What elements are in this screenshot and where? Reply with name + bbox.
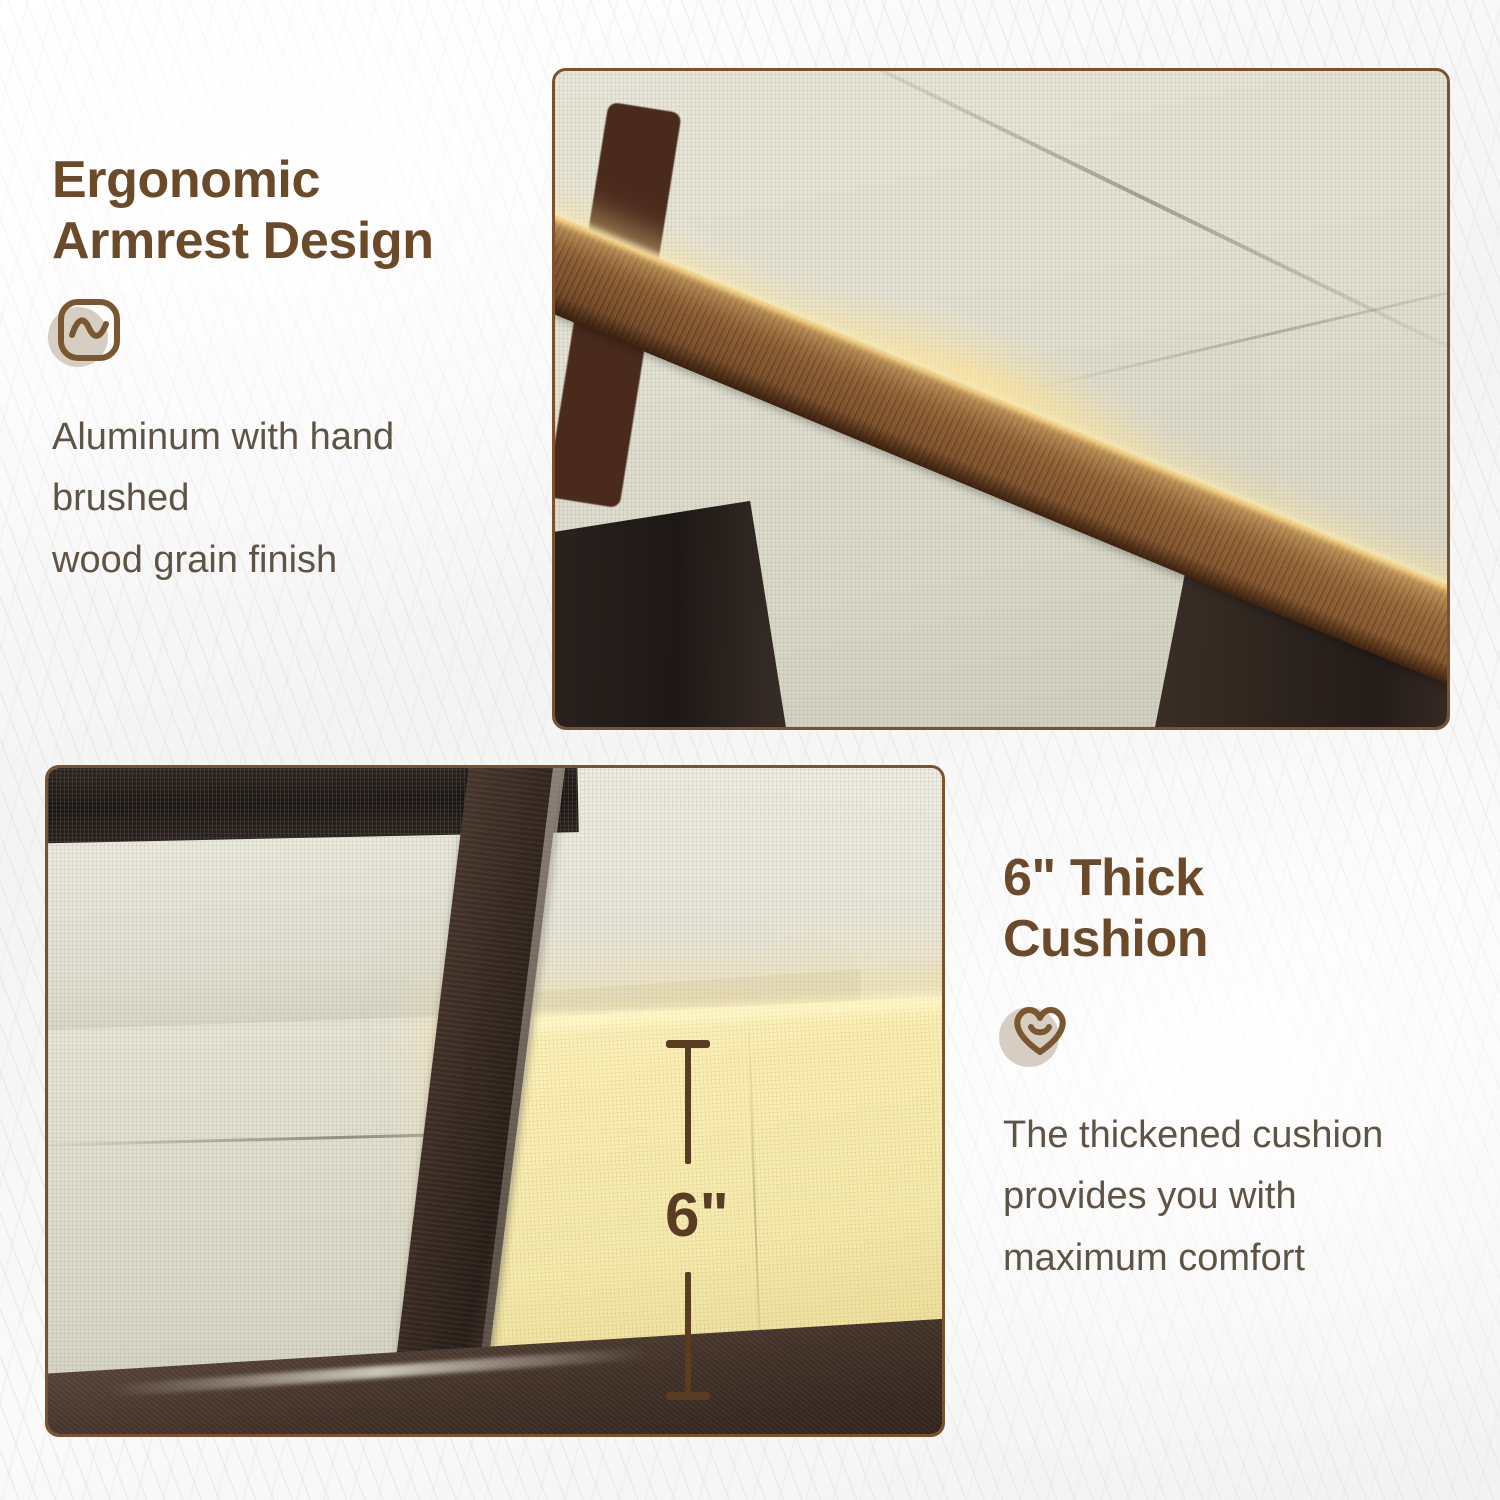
heart-badge-icon — [1003, 997, 1077, 1071]
cushion-heading-line-1: 6" Thick — [1003, 848, 1473, 909]
armrest-body-text: Aluminum with hand brushed wood grain fi… — [52, 407, 522, 592]
armrest-heading-line-1: Ergonomic — [52, 150, 522, 211]
armrest-body-line-1: Aluminum with hand — [52, 407, 522, 469]
dimension-line-upper — [685, 1046, 691, 1164]
armrest-body-line-3: wood grain finish — [52, 530, 522, 592]
cushion-body-line-1: The thickened cushion — [1003, 1105, 1473, 1167]
armrest-heading: Ergonomic Armrest Design — [52, 150, 522, 273]
armrest-body-line-2: brushed — [52, 468, 522, 530]
armrest-heading-line-2: Armrest Design — [52, 211, 522, 272]
cushion-heading: 6" Thick Cushion — [1003, 848, 1473, 971]
dimension-cap-bottom — [666, 1392, 710, 1400]
cushion-body-line-2: provides you with — [1003, 1166, 1473, 1228]
feature-block-armrest: Ergonomic Armrest Design Aluminum with h… — [52, 150, 522, 591]
page-background: 6" Ergonomic Armrest Design Aluminum wit… — [0, 0, 1500, 1500]
armrest-photo — [552, 68, 1450, 730]
feature-block-cushion: 6" Thick Cushion The thickened cushion p… — [1003, 848, 1473, 1289]
cushion-thickness-dimension: 6" — [641, 1040, 751, 1400]
cushion-body-line-3: maximum comfort — [1003, 1228, 1473, 1290]
dimension-line-lower — [685, 1272, 691, 1392]
cushion-body-text: The thickened cushion provides you with … — [1003, 1105, 1473, 1290]
cushion-photo — [45, 765, 945, 1437]
cushion-heading-line-2: Cushion — [1003, 909, 1473, 970]
wave-badge-icon — [52, 297, 126, 371]
dimension-label: 6" — [629, 1180, 765, 1251]
